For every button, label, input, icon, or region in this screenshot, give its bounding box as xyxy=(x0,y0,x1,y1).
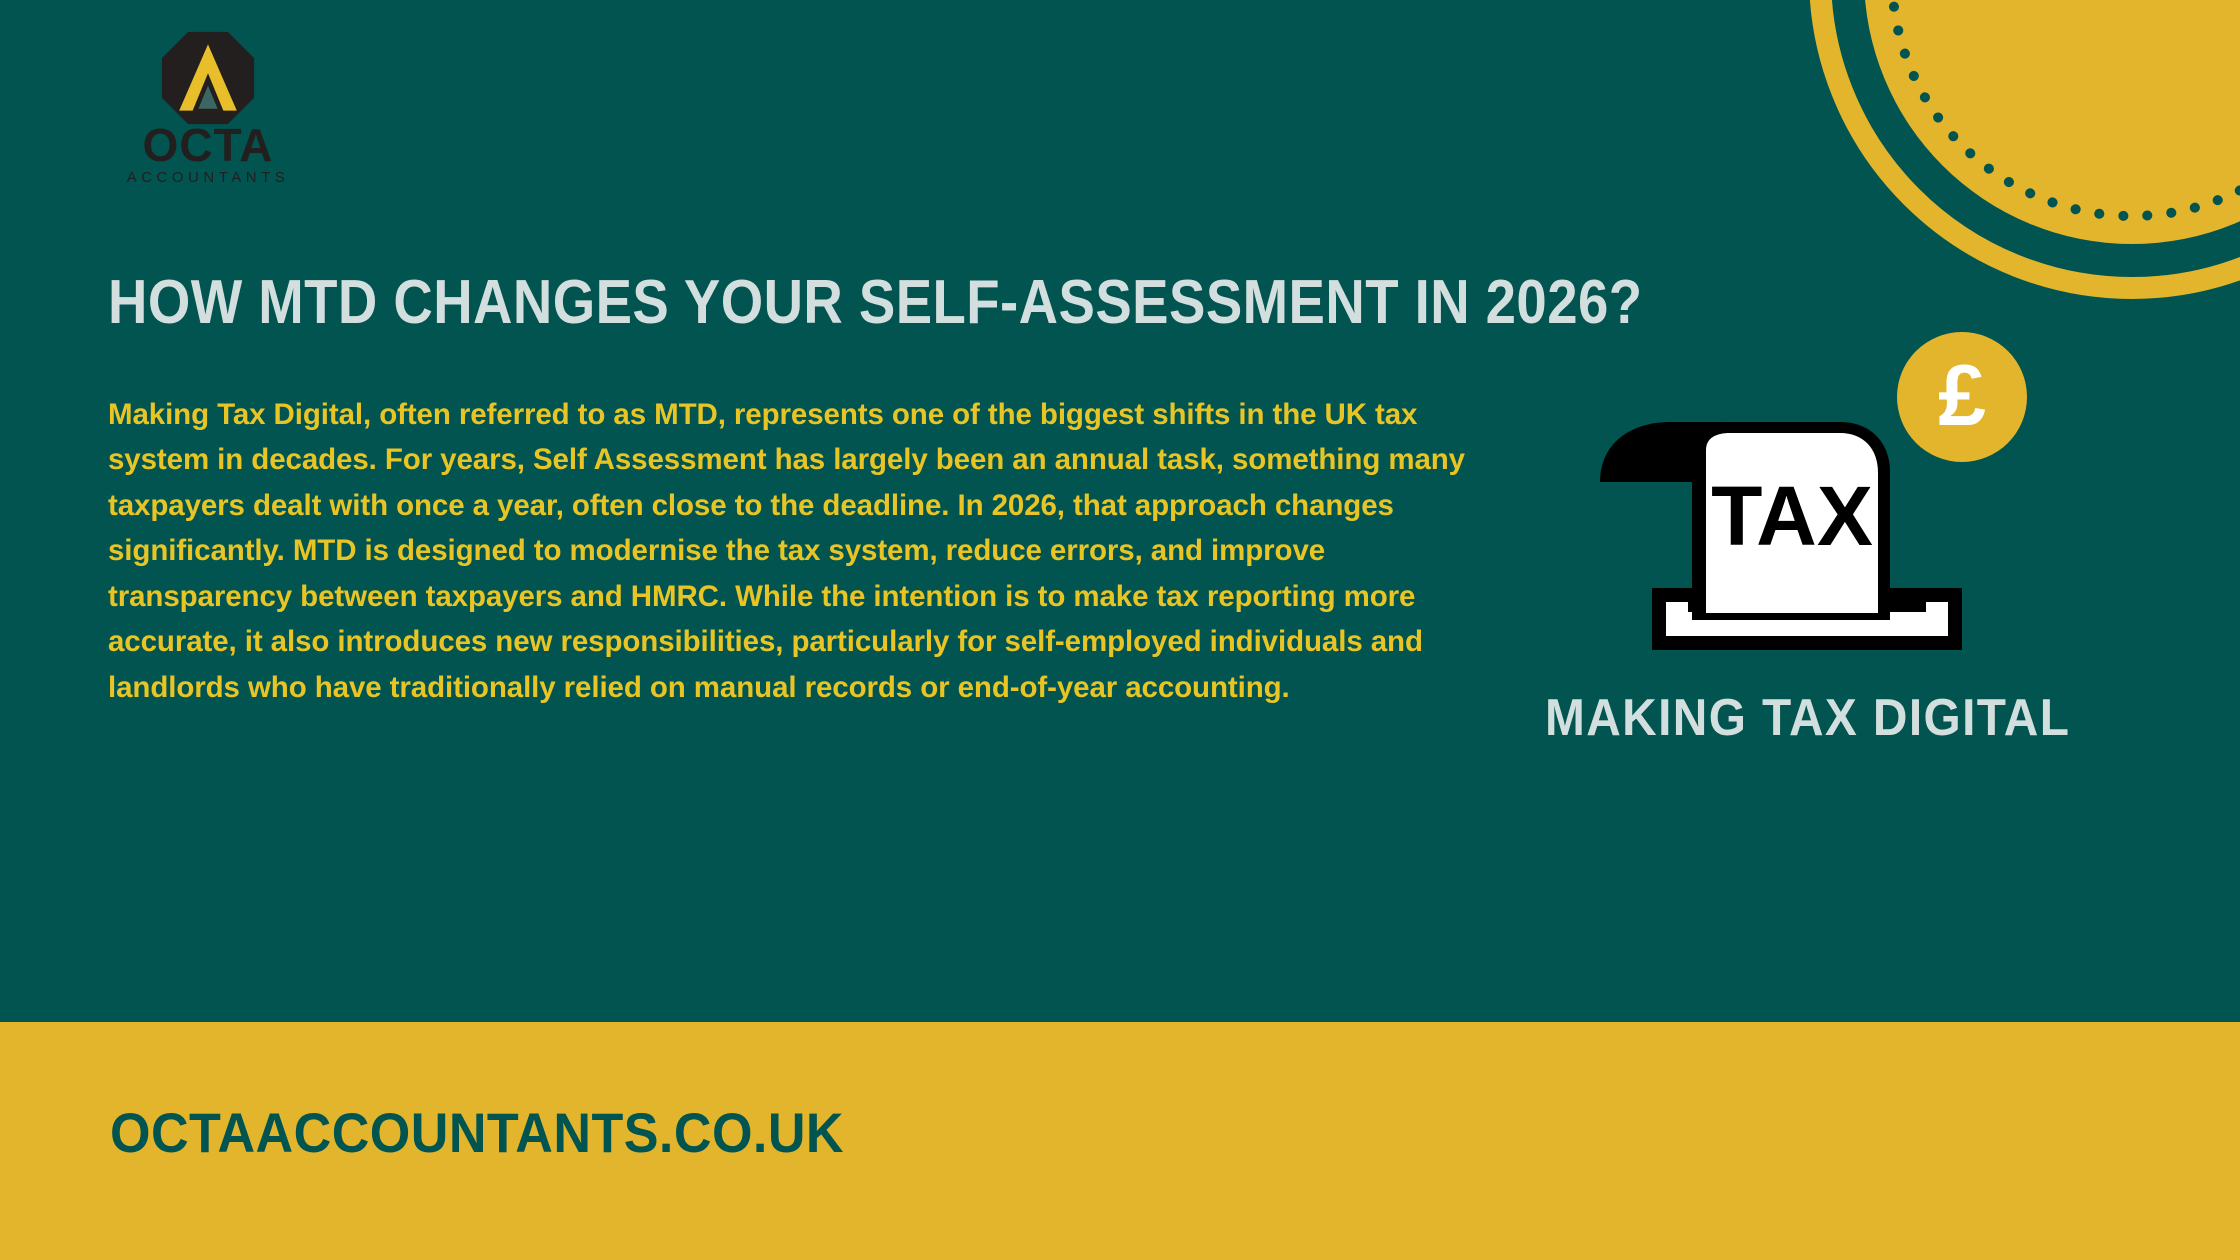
tax-illustration: TAX £ xyxy=(1540,330,2100,670)
page-title: HOW MTD CHANGES YOUR SELF-ASSESSMENT IN … xyxy=(108,270,1604,335)
logo-wordmark: OCTA ACCOUNTANTS xyxy=(118,122,298,187)
tax-scroll-icon: TAX xyxy=(1600,422,1890,620)
tax-document-label: TAX xyxy=(1711,469,1873,563)
brand-logo[interactable]: OCTA ACCOUNTANTS xyxy=(118,30,298,187)
logo-subtitle: ACCOUNTANTS xyxy=(118,169,298,187)
logo-name: OCTA xyxy=(118,122,298,168)
illustration-caption: MAKING TAX DIGITAL xyxy=(1545,688,2097,748)
pound-coin-symbol: £ xyxy=(1938,348,1986,444)
octagon-chevron-icon xyxy=(160,30,256,126)
body-paragraph: Making Tax Digital, often referred to as… xyxy=(108,392,1498,711)
footer-website-url[interactable]: OCTAACCOUNTANTS.CO.UK xyxy=(110,1100,844,1165)
infographic-banner: OCTA ACCOUNTANTS HOW MTD CHANGES YOUR SE… xyxy=(0,0,2240,1260)
